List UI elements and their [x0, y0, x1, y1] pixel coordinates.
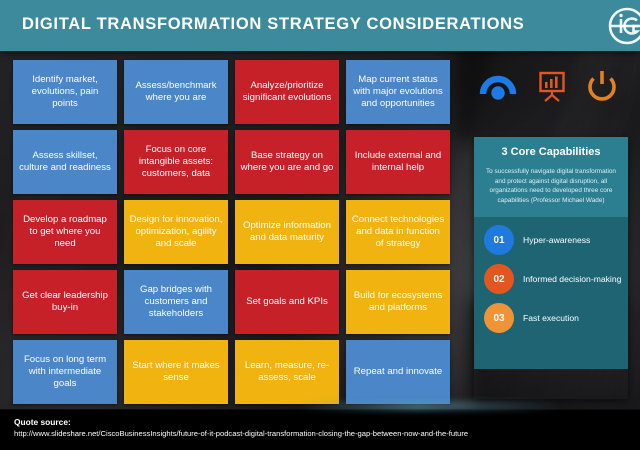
consideration-cell[interactable]: Build for ecosystems and platforms: [346, 270, 450, 334]
consideration-cell[interactable]: Repeat and innovate: [346, 340, 450, 404]
consideration-cell[interactable]: Start where it makes sense: [124, 340, 228, 404]
consideration-cell[interactable]: Develop a roadmap to get where you need: [13, 200, 117, 264]
header-bar: DIGITAL TRANSFORMATION STRATEGY CONSIDER…: [0, 0, 640, 51]
panel-title: 3 Core Capabilities: [482, 146, 620, 158]
i-scoop-circle-logo: [606, 5, 640, 47]
consideration-cell[interactable]: Analyze/prioritize significant evolution…: [235, 60, 339, 124]
consideration-cell[interactable]: Assess/benchmark where you are: [124, 60, 228, 124]
capability-item[interactable]: 01 Hyper-awareness: [484, 225, 628, 255]
capability-label: Informed decision-making: [523, 274, 621, 285]
core-capabilities-panel: 3 Core Capabilities To successfully navi…: [474, 137, 628, 399]
consideration-cell[interactable]: Learn, measure, re-assess, scale: [235, 340, 339, 404]
capability-item[interactable]: 02 Informed decision-making: [484, 264, 628, 294]
consideration-cell[interactable]: Assess skillset, culture and readiness: [13, 130, 117, 194]
capability-number-badge: 02: [484, 264, 514, 294]
consideration-cell[interactable]: Base strategy on where you are and go: [235, 130, 339, 194]
consideration-cell[interactable]: Gap bridges with customers and stakehold…: [124, 270, 228, 334]
footer-glow: [300, 401, 560, 411]
consideration-cell[interactable]: Set goals and KPIs: [235, 270, 339, 334]
power-icon: [582, 66, 622, 106]
quote-source-label: Quote source:: [14, 417, 71, 427]
consideration-cell[interactable]: Include external and internal help: [346, 130, 450, 194]
capability-item[interactable]: 03 Fast execution: [484, 303, 628, 333]
capability-label: Fast execution: [523, 313, 579, 324]
panel-description: To successfully navigate digital transfo…: [482, 167, 620, 205]
panel-header: 3 Core Capabilities To successfully navi…: [474, 137, 628, 217]
infographic-canvas: DIGITAL TRANSFORMATION STRATEGY CONSIDER…: [0, 0, 640, 450]
gauge-icon: [478, 66, 518, 106]
capability-number-badge: 01: [484, 225, 514, 255]
presentation-chart-icon: [532, 66, 572, 106]
capability-label: Hyper-awareness: [523, 235, 590, 246]
consideration-cell[interactable]: Optimize information and data maturity: [235, 200, 339, 264]
page-title: DIGITAL TRANSFORMATION STRATEGY CONSIDER…: [22, 15, 524, 34]
capability-icon-row: [474, 66, 634, 108]
quote-source-url[interactable]: http://www.slideshare.net/CiscoBusinessI…: [14, 429, 468, 438]
consideration-cell[interactable]: Map current status with major evolutions…: [346, 60, 450, 124]
footer-bar: Quote source: http://www.slideshare.net/…: [0, 409, 640, 450]
panel-body: 01 Hyper-awareness 02 Informed decision-…: [474, 217, 628, 369]
consideration-cell[interactable]: Focus on core intangible assets: custome…: [124, 130, 228, 194]
consideration-cell[interactable]: Design for innovation, optimization, agi…: [124, 200, 228, 264]
consideration-cell[interactable]: Connect technologies and data in functio…: [346, 200, 450, 264]
capability-number-badge: 03: [484, 303, 514, 333]
consideration-cell[interactable]: Identify market, evolutions, pain points: [13, 60, 117, 124]
consideration-cell[interactable]: Get clear leadership buy-in: [13, 270, 117, 334]
considerations-grid: Identify market, evolutions, pain points…: [13, 60, 450, 404]
consideration-cell[interactable]: Focus on long term with intermediate goa…: [13, 340, 117, 404]
